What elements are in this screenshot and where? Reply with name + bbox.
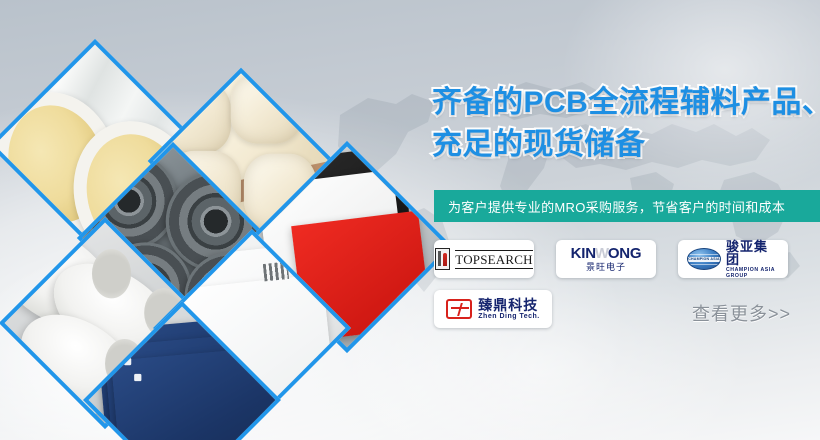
globe-band-text: CHAMPION ASIA [688,257,720,261]
banner-subtitle-bar: 为客户提供专业的MRO采购服务，节省客户的时间和成本 [434,190,820,222]
champion-asia-english-name: CHAMPION ASIA GROUP [726,267,779,279]
kinwong-chinese-name: 景旺电子 [586,262,626,272]
partner-logo-row-1: TOPSEARCH KINWONG 景旺电子 CHAMPION ASIA [434,240,820,278]
champion-asia-chinese-name: 骏亚集团 [726,240,779,266]
headline-line-1: 齐备的PCB全流程辅料产品、 [432,86,820,119]
product-photo-collage: JIE [0,0,430,440]
zhending-english-name: Zhen Ding Tech. [478,313,539,321]
partner-logo-group: TOPSEARCH KINWONG 景旺电子 CHAMPION ASIA [434,240,820,340]
kinwong-wordmark-icon: KINWONG [571,246,642,261]
banner-headline: 齐备的PCB全流程辅料产品、 充足的现货储备 [432,82,820,166]
partner-logo-champion-asia[interactable]: CHAMPION ASIA 骏亚集团 CHAMPION ASIA GROUP [678,240,788,278]
banner-content: 齐备的PCB全流程辅料产品、 充足的现货储备 为客户提供专业的MRO采购服务，节… [424,0,820,440]
partner-logo-kinwong[interactable]: KINWONG 景旺电子 [556,240,656,278]
banner-subtitle-text: 为客户提供专业的MRO采购服务，节省客户的时间和成本 [434,197,785,216]
topsearch-emblem-icon [435,248,450,270]
zhending-monogram-icon [446,299,472,319]
partner-logo-zhending[interactable]: 臻鼎科技 Zhen Ding Tech. [434,290,552,328]
view-more-link[interactable]: 查看更多>> [692,300,791,326]
promo-banner: JIE 齐备的PCB全流程辅料产品、 充足的现货储备 为客户提供专业的MRO采购… [0,0,820,440]
kinwong-part3: ONG [608,246,642,261]
globe-icon: CHAMPION ASIA [687,248,721,270]
topsearch-wordmark: TOPSEARCH [455,250,532,269]
headline-line-2: 充足的现货储备 [432,124,820,166]
partner-logo-topsearch[interactable]: TOPSEARCH [434,240,534,278]
kinwong-part1: KIN [571,246,596,261]
kinwong-part2: W [595,246,609,261]
zhending-chinese-name: 臻鼎科技 [478,298,539,312]
